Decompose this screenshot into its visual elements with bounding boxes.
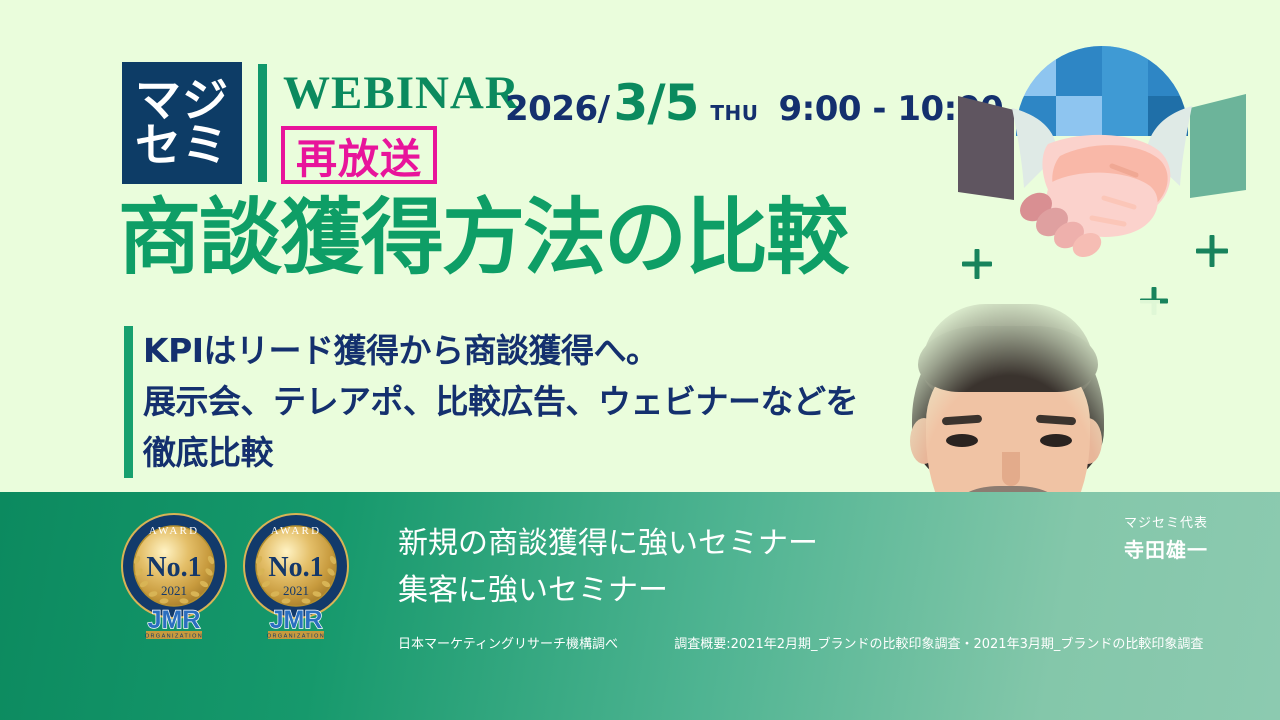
fineprint-source: 日本マーケティングリサーチ機構調べ xyxy=(398,637,618,652)
svg-text:ORGANIZATION: ORGANIZATION xyxy=(267,634,325,640)
band-copy: 新規の商談獲得に強いセミナー 集客に強いセミナー xyxy=(398,521,818,614)
logo-line-1: マジ xyxy=(135,78,229,123)
plus-decoration-icon xyxy=(1196,235,1228,267)
svg-text:AWARD: AWARD xyxy=(149,525,199,537)
rerun-badge-label: 再放送 xyxy=(296,125,422,185)
subtitle-block: KPIはリード獲得から商談獲得へ。 展示会、テレアポ、比較広告、ウェビナーなどを… xyxy=(143,325,903,478)
subtitle-line-1: KPIはリード獲得から商談獲得へ。 xyxy=(143,325,903,376)
date-year: 2026/ xyxy=(505,89,610,129)
logo-line-2: セミ xyxy=(135,123,229,168)
svg-text:ORGANIZATION: ORGANIZATION xyxy=(145,634,203,640)
majisemi-logo: マジ セミ xyxy=(122,62,242,184)
svg-text:2021: 2021 xyxy=(161,583,187,598)
svg-text:No.1: No.1 xyxy=(146,552,201,583)
subtitle-line-2: 展示会、テレアポ、比較広告、ウェビナーなどを xyxy=(143,376,903,427)
svg-text:JMR: JMR xyxy=(148,606,201,634)
webinar-banner: マジ セミ WEBINAR 2026/ 3/5 THU 9:00 - 10:00… xyxy=(0,0,1280,720)
band-copy-line-2: 集客に強いセミナー xyxy=(398,568,818,615)
svg-text:AWARD: AWARD xyxy=(271,525,321,537)
main-title: 商談獲得方法の比較 xyxy=(118,196,847,279)
subtitle-line-3: 徹底比較 xyxy=(143,427,903,478)
webinar-label: WEBINAR xyxy=(283,66,520,120)
svg-text:2021: 2021 xyxy=(283,583,309,598)
header-accent-bar xyxy=(258,64,267,182)
svg-text:JMR: JMR xyxy=(270,606,323,634)
presenter-name: 寺田雄一 xyxy=(1088,534,1208,563)
award-medal: AWARD No.1 2021 JMR ORGANIZATION xyxy=(242,510,350,642)
rerun-badge: 再放送 xyxy=(281,126,437,184)
plus-decoration-icon xyxy=(962,249,992,279)
fineprint-survey: 調査概要:2021年2月期_ブランドの比較印象調査・2021年3月期_ブランドの… xyxy=(674,637,1203,652)
date-month-day: 3/5 xyxy=(614,74,699,132)
award-medal: AWARD No.1 2021 JMR ORGANIZATION xyxy=(120,510,228,642)
presenter-role: マジセミ代表 xyxy=(1088,512,1208,531)
webinar-datetime: 2026/ 3/5 THU 9:00 - 10:00 xyxy=(505,74,1003,132)
svg-text:No.1: No.1 xyxy=(268,552,323,583)
date-day-of-week: THU xyxy=(710,101,758,125)
band-copy-line-1: 新規の商談獲得に強いセミナー xyxy=(398,521,818,568)
subtitle-accent-bar xyxy=(124,326,133,478)
presenter-credit: マジセミ代表 寺田雄一 xyxy=(1088,512,1208,563)
fineprint: 日本マーケティングリサーチ機構調べ 調査概要:2021年2月期_ブランドの比較印… xyxy=(398,633,1203,652)
